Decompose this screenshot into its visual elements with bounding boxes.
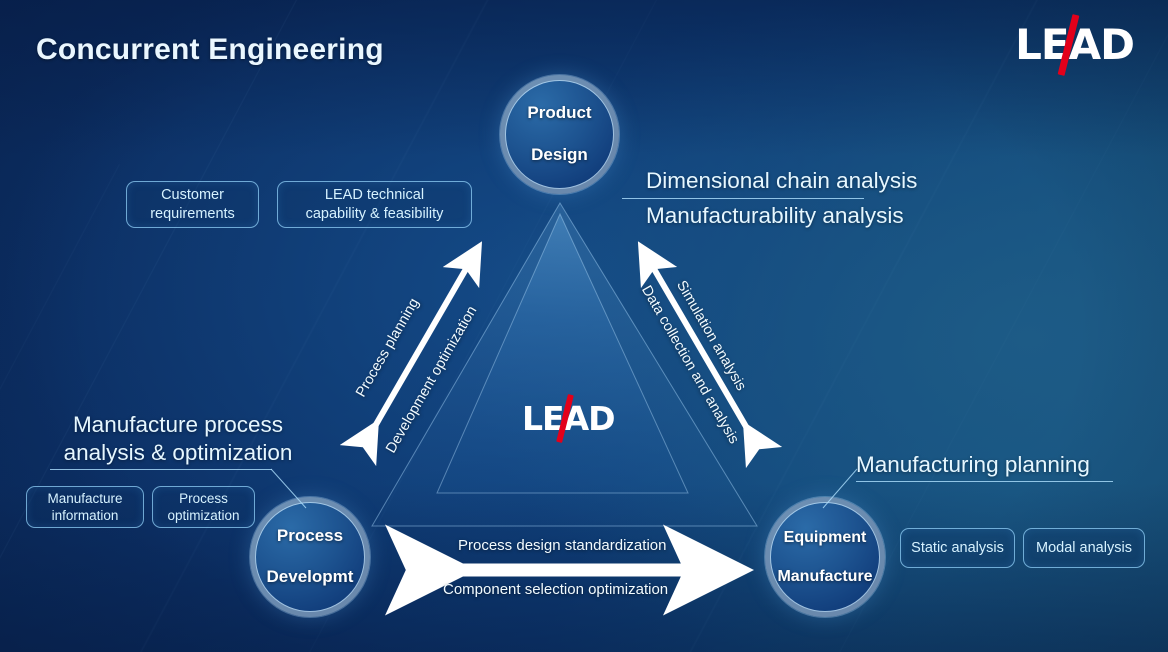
- heading-rule-right: [622, 198, 864, 199]
- pill-lead-technical-label: LEAD technical capability & feasibility: [306, 186, 444, 223]
- pill-manufacture-information-label: Manufacture information: [47, 490, 122, 524]
- heading-dimensional-chain: Dimensional chain analysis: [646, 167, 917, 195]
- pill-process-optimization-label: Process optimization: [167, 490, 239, 524]
- node-process-development[interactable]: Process Developmt: [250, 497, 370, 617]
- slide-root: Concurrent Engineering LEAD LEAD: [0, 0, 1168, 652]
- pill-customer-requirements-line1: Customer: [161, 187, 224, 203]
- pill-process-optimization-line2: optimization: [167, 508, 239, 523]
- node-equipment-manufacture-label: Equipment Manufacture: [765, 528, 884, 587]
- node-process-development-label: Process Developmt: [255, 526, 366, 588]
- pill-lead-technical[interactable]: LEAD technical capability & feasibility: [277, 181, 472, 228]
- lead-logo-center: LEAD: [522, 402, 615, 435]
- pill-manufacture-information[interactable]: Manufacture information: [26, 486, 144, 528]
- node-product-design[interactable]: Product Design: [500, 75, 619, 194]
- pill-process-optimization-line1: Process: [179, 491, 228, 506]
- pill-customer-requirements-label: Customer requirements: [150, 186, 235, 223]
- node-equipment-manufacture[interactable]: Equipment Manufacture: [765, 497, 885, 617]
- pill-modal-analysis[interactable]: Modal analysis: [1023, 528, 1145, 568]
- heading-rule-left: [50, 469, 272, 470]
- pill-static-analysis-label: Static analysis: [911, 539, 1004, 557]
- node-product-design-line2: Design: [521, 145, 597, 166]
- pill-manufacture-information-line2: information: [52, 508, 119, 523]
- arrow-label-process-design-standardization: Process design standardization: [458, 537, 666, 554]
- pill-manufacture-information-line1: Manufacture: [47, 491, 122, 506]
- heading-manufacture-process-line1: Manufacture process: [73, 412, 283, 437]
- pill-process-optimization[interactable]: Process optimization: [152, 486, 255, 528]
- node-product-design-label: Product Design: [515, 103, 603, 165]
- node-process-development-line1: Process: [261, 526, 360, 547]
- heading-rule-bottom-right: [856, 481, 1113, 482]
- node-process-development-line2: Developmt: [261, 567, 360, 588]
- node-product-design-line1: Product: [521, 103, 597, 124]
- pill-modal-analysis-label: Modal analysis: [1036, 539, 1132, 557]
- heading-manufacturability: Manufacturability analysis: [646, 202, 904, 230]
- pill-static-analysis[interactable]: Static analysis: [900, 528, 1015, 568]
- pill-customer-requirements[interactable]: Customer requirements: [126, 181, 259, 228]
- node-equipment-manufacture-line2: Manufacture: [771, 567, 878, 587]
- pill-lead-technical-line2: capability & feasibility: [306, 206, 444, 222]
- arrow-label-component-selection-optimization: Component selection optimization: [443, 581, 668, 598]
- pill-customer-requirements-line2: requirements: [150, 206, 235, 222]
- pill-lead-technical-line1: LEAD technical: [325, 187, 424, 203]
- heading-manufacture-process-line2: analysis & optimization: [64, 440, 293, 465]
- heading-manufacture-process: Manufacture process analysis & optimizat…: [48, 411, 308, 467]
- heading-manufacturing-planning: Manufacturing planning: [856, 451, 1090, 479]
- node-equipment-manufacture-line1: Equipment: [771, 528, 878, 548]
